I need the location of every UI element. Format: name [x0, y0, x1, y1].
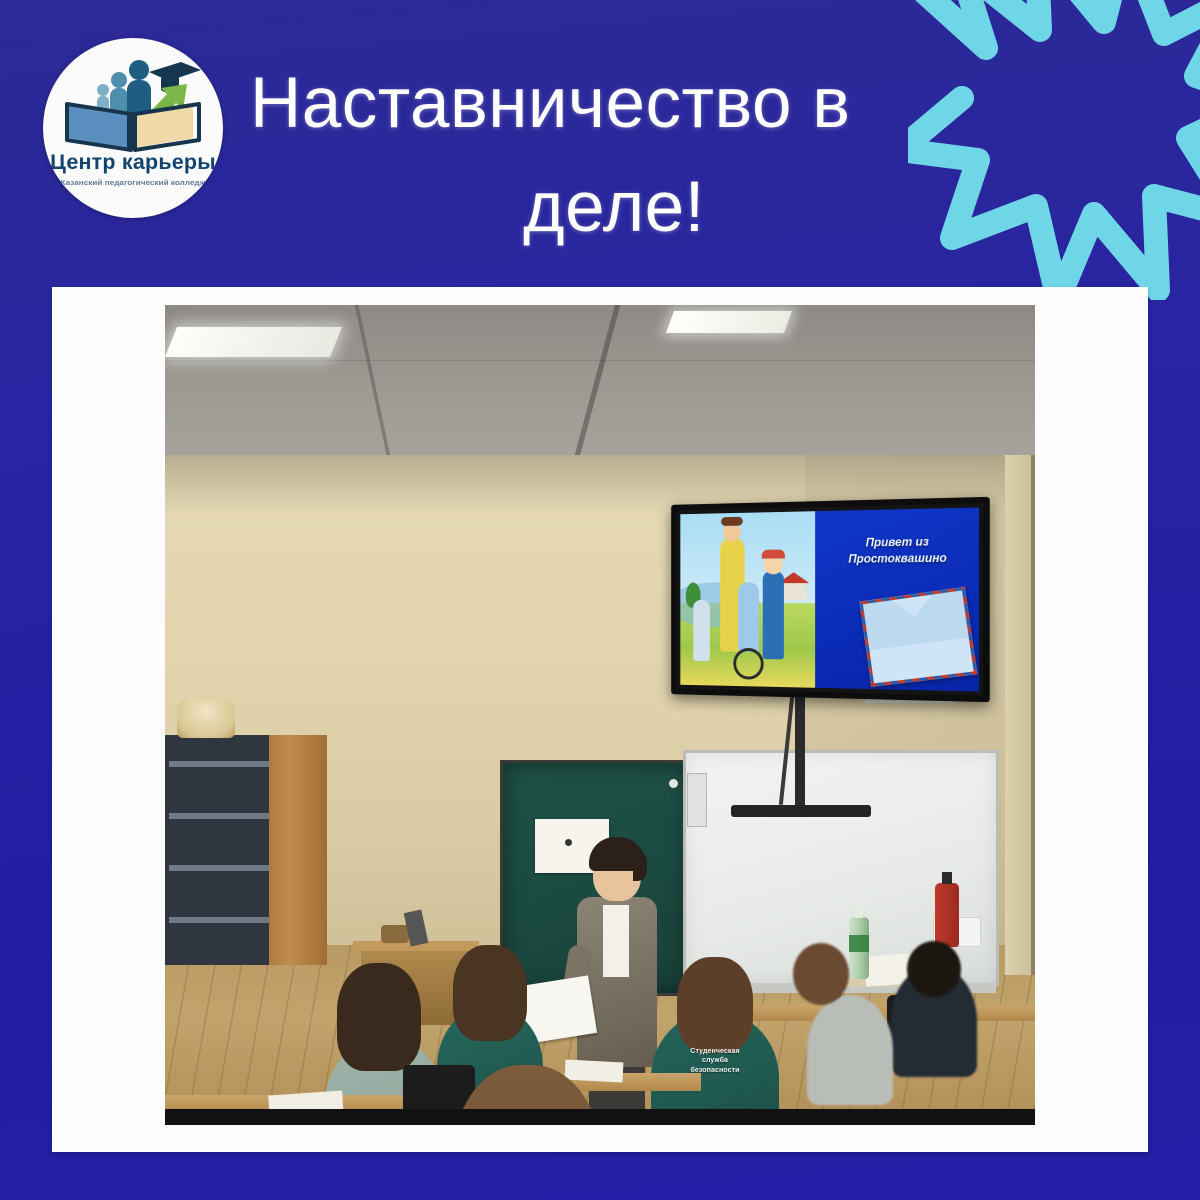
student-head-dark	[907, 941, 961, 997]
cartoon-slide-image	[680, 511, 815, 688]
poster-canvas: Центр карьеры Казанский педагогический к…	[0, 0, 1200, 1200]
classroom-photo: Привет из Простоквашино	[165, 305, 1035, 1125]
presenter-hair-side	[633, 851, 647, 881]
tv-stand-base	[731, 805, 871, 817]
desk-object	[381, 925, 409, 943]
fire-extinguisher	[935, 883, 959, 947]
student-head-brown	[793, 943, 849, 1005]
ceiling-light-2	[666, 311, 792, 333]
slide-title-line-2: Простоквашино	[848, 553, 946, 566]
board-magnet	[669, 779, 678, 788]
slide-text-panel: Привет из Простоквашино	[815, 507, 979, 691]
logo-title: Центр карьеры	[43, 150, 223, 175]
slide-title: Привет из Простоквашино	[825, 533, 973, 569]
logo-badge: Центр карьеры Казанский педагогический к…	[43, 38, 223, 218]
student-hair-1	[677, 957, 753, 1053]
logo-subtitle: Казанский педагогический колледж	[43, 178, 223, 187]
wall-switch	[687, 773, 707, 827]
water-bottle-label	[849, 935, 869, 952]
student-back-grey	[807, 995, 893, 1105]
photo-bottom-edge	[165, 1109, 1035, 1125]
presenter-shirt	[603, 905, 629, 977]
page-title: Наставничество в деле!	[236, 52, 996, 261]
envelope-icon	[860, 587, 978, 687]
wooden-cupboard	[269, 735, 327, 965]
page-title-line-1: Наставничество в	[250, 52, 996, 156]
flower-basket	[177, 700, 235, 738]
tv-stand-pole	[795, 681, 805, 813]
student-hair-left	[337, 963, 421, 1071]
notebook-2	[565, 1059, 624, 1082]
shelf-unit	[165, 735, 277, 965]
open-book-graduates-icon	[63, 54, 203, 152]
slide-title-line-1: Привет из	[866, 536, 929, 549]
uniform-text-1: Студенческая служба безопасности	[665, 1047, 765, 1075]
door-gap	[1031, 455, 1035, 975]
page-title-line-2: деле!	[232, 156, 996, 260]
student-hair-0	[453, 945, 527, 1041]
presentation-screen: Привет из Простоквашино	[671, 497, 990, 702]
ceiling-light-1	[165, 327, 342, 357]
photo-card: Привет из Простоквашино	[52, 287, 1148, 1152]
